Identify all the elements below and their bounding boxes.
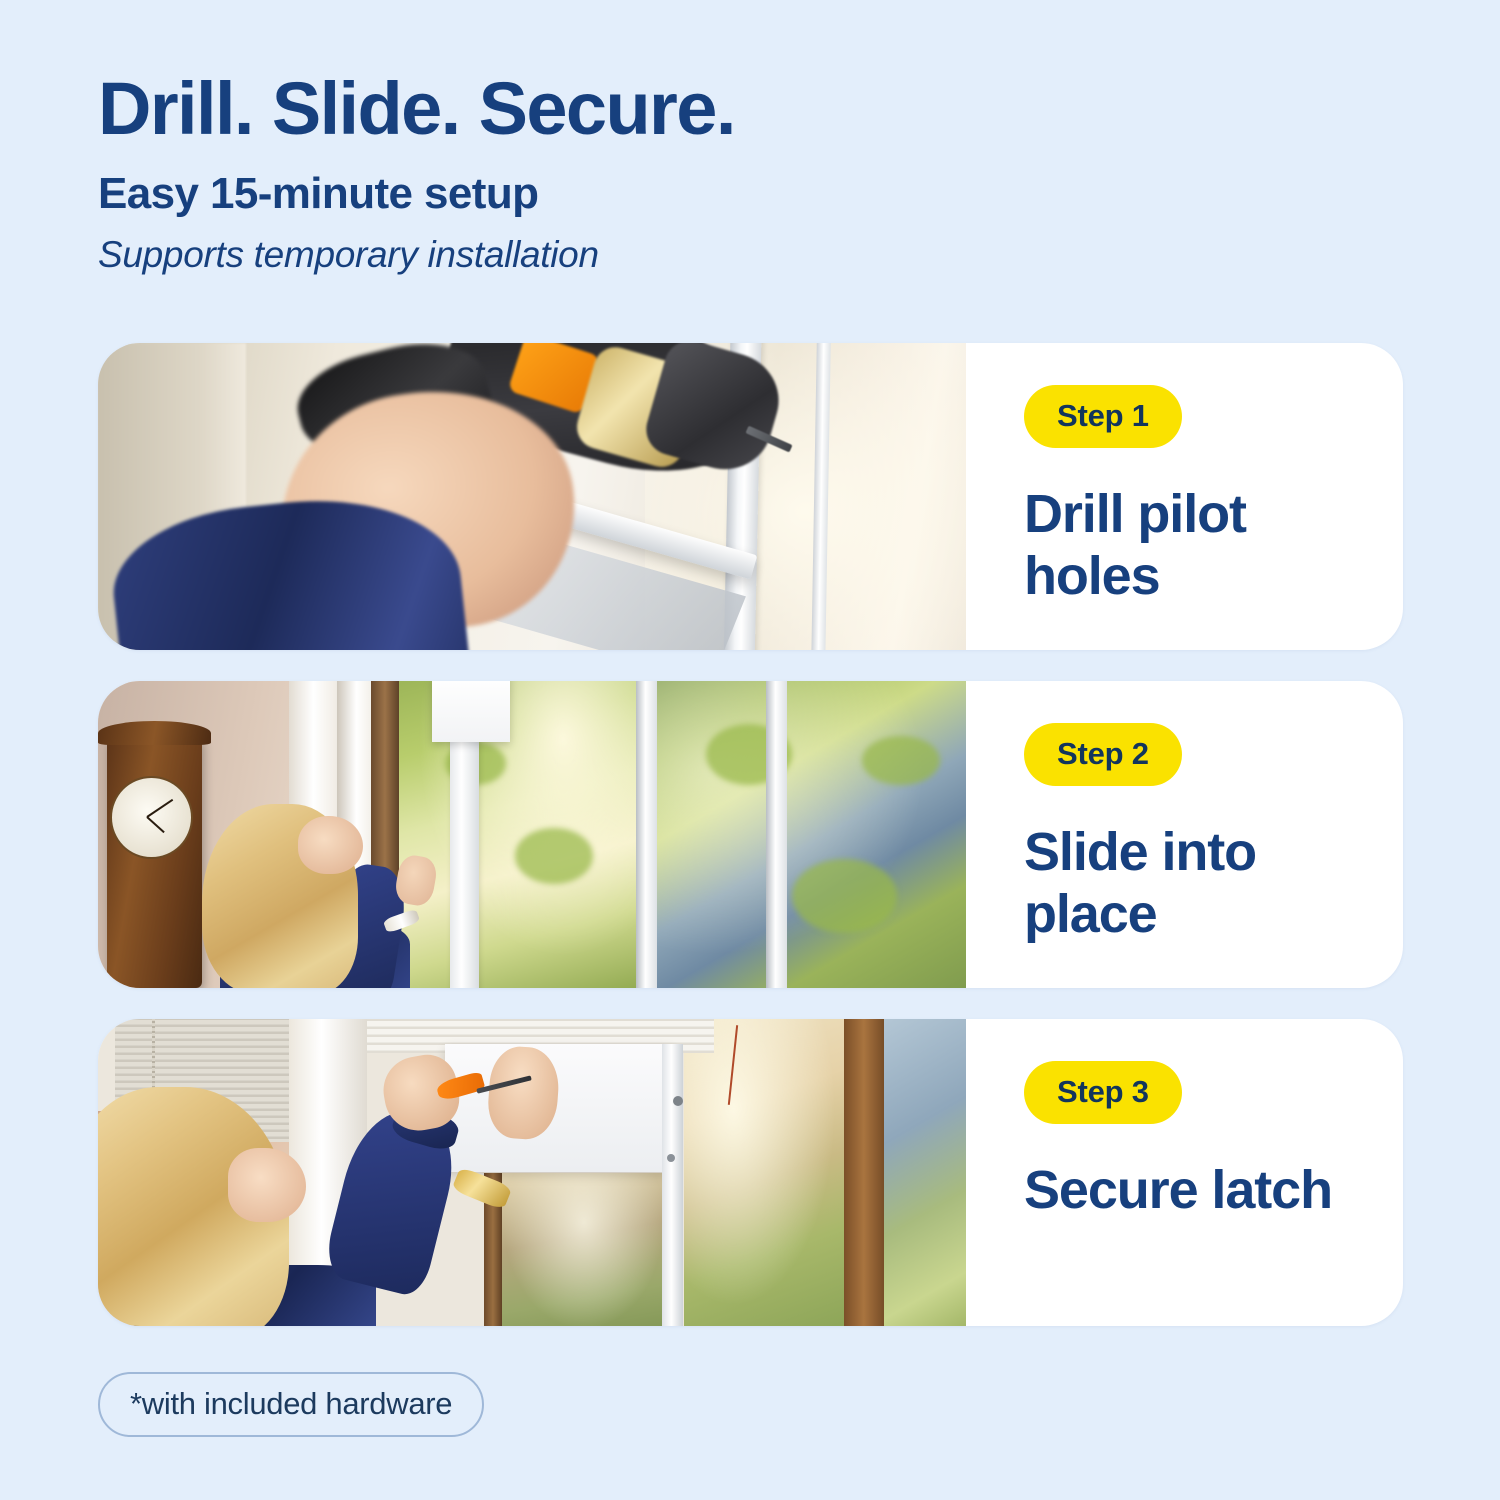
photo3-panel-edge [662, 1044, 683, 1326]
step-card-3[interactable]: Step 3 Secure latch [98, 1019, 1403, 1326]
photo2-clock-crown [98, 721, 211, 746]
step-card-1[interactable]: Step 1 Drill pilot holes [98, 343, 1403, 650]
promo-page: Drill. Slide. Secure. Easy 15-minute set… [0, 0, 1500, 1500]
step-body-2: Step 2 Slide into place [966, 681, 1403, 988]
photo3-person-face [228, 1148, 306, 1222]
step-badge-2: Step 2 [1024, 723, 1182, 786]
photo2-mullion [766, 681, 787, 988]
photo2-panel-strip [450, 733, 480, 988]
photo2-person-face [298, 816, 363, 874]
steps-list: Step 1 Drill pilot holes [98, 343, 1403, 1357]
step-body-1: Step 1 Drill pilot holes [966, 343, 1403, 650]
photo2-wall-clock [107, 736, 202, 988]
photo3-garden [884, 1019, 966, 1326]
photo3-wood-post [844, 1019, 887, 1326]
photo2-clock-face [110, 776, 192, 859]
photo3-glass-pane [497, 1173, 671, 1327]
step-photo-slide [98, 681, 966, 988]
page-subtitle: Easy 15-minute setup [98, 172, 1198, 216]
photo2-garden-right [649, 681, 966, 988]
photo2-insert-panel [432, 681, 510, 742]
photo3-insert-panel [445, 1044, 671, 1173]
photo2-garden-left [393, 681, 636, 988]
header-block: Drill. Slide. Secure. Easy 15-minute set… [98, 72, 1198, 273]
step-title-1: Drill pilot holes [1024, 484, 1354, 607]
step-photo-latch [98, 1019, 966, 1326]
photo3-screw [673, 1096, 683, 1106]
photo2-foliage [862, 736, 940, 785]
step-badge-1: Step 1 [1024, 385, 1182, 448]
step-photo-drill [98, 343, 966, 650]
photo2-foliage [792, 859, 896, 933]
photo2-mullion [636, 681, 657, 988]
step-title-2: Slide into place [1024, 822, 1354, 945]
footnote-pill: *with included hardware [98, 1372, 484, 1437]
photo2-foliage [515, 828, 593, 883]
page-tagline: Supports temporary installation [98, 236, 1198, 273]
step-badge-3: Step 3 [1024, 1061, 1182, 1124]
page-title: Drill. Slide. Secure. [98, 72, 1198, 146]
step-body-3: Step 3 Secure latch [966, 1019, 1403, 1326]
step-title-3: Secure latch [1024, 1160, 1354, 1222]
step-card-2[interactable]: Step 2 Slide into place [98, 681, 1403, 988]
photo3-outdoor-light [684, 1019, 849, 1326]
